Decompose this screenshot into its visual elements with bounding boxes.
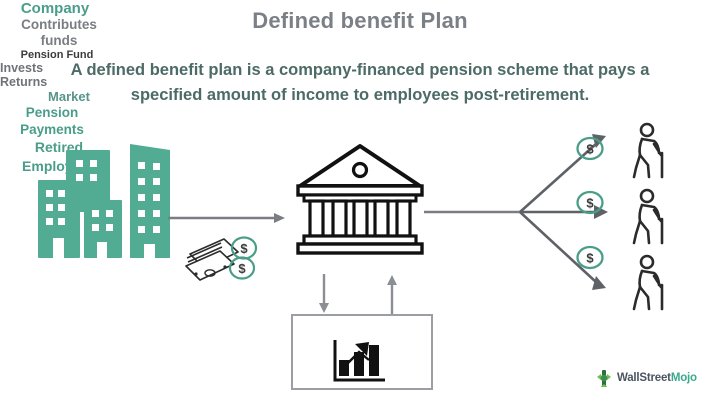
wallstreetmojo-logo-icon xyxy=(594,368,614,388)
page-subtitle: A defined benefit plan is a company-fina… xyxy=(36,58,684,108)
logo-text-wallstreet: WallStreet xyxy=(617,372,671,384)
contributes-funds-line2: funds xyxy=(41,33,78,48)
returns-arrow-up xyxy=(386,274,398,314)
bar-chart-growth-icon xyxy=(333,338,389,382)
dollar-coin-icon: $ xyxy=(228,256,256,280)
svg-text:$: $ xyxy=(586,142,594,157)
pension-payments-line2: Payments xyxy=(20,122,84,137)
infographic-canvas: Defined benefit Plan A defined benefit p… xyxy=(0,0,720,403)
contributes-funds-arrow xyxy=(168,212,286,224)
elderly-person-with-cane-icon xyxy=(628,188,674,246)
page-title: Defined benefit Plan xyxy=(0,8,720,34)
logo-text: WallStreetMojo xyxy=(617,372,697,384)
office-buildings-icon xyxy=(38,142,174,264)
svg-text:$: $ xyxy=(238,261,246,276)
logo-text-mojo: Mojo xyxy=(671,372,697,384)
elderly-person-with-cane-icon xyxy=(628,122,674,180)
svg-text:$: $ xyxy=(586,196,594,211)
elderly-person-with-cane-icon xyxy=(628,254,674,312)
svg-text:$: $ xyxy=(240,241,248,256)
dollar-coin-icon: $ xyxy=(575,245,605,270)
dollar-coin-icon: $ xyxy=(575,136,605,161)
pension-payments-label: Pension Payments xyxy=(0,104,104,138)
svg-text:$: $ xyxy=(586,251,594,266)
invests-arrow-down xyxy=(318,274,330,314)
dollar-coin-icon: $ xyxy=(575,190,605,215)
wallstreetmojo-logo: WallStreetMojo xyxy=(594,368,697,388)
bank-building-icon xyxy=(296,144,424,264)
